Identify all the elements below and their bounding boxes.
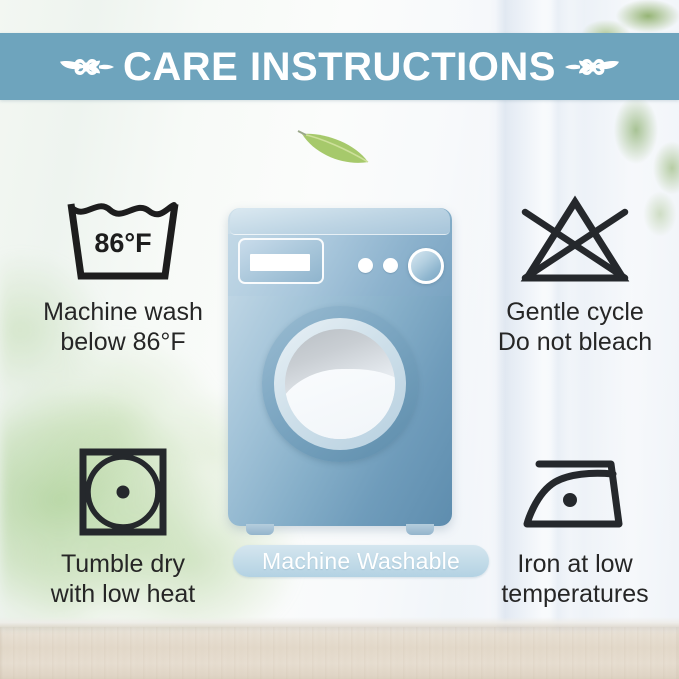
machine-button (358, 258, 373, 273)
washer-door-ring (274, 318, 406, 450)
tumble-dry-icon (71, 440, 175, 544)
iron-icon (513, 440, 637, 544)
fleur-de-lis-icon (55, 44, 117, 90)
background-table-edge (0, 617, 679, 627)
header-banner: CARE INSTRUCTIONS (0, 33, 679, 100)
care-item-label: Iron at low temperatures (501, 550, 648, 609)
falling-leaf-icon (296, 118, 376, 172)
washer-door (262, 306, 418, 462)
care-item-machine-wash: 86°F Machine wash below 86°F (18, 188, 228, 357)
machine-button (383, 258, 398, 273)
care-instructions-infographic: CARE INSTRUCTIONS 86°F Machine wash bel (0, 0, 679, 679)
badge-label: Machine Washable (262, 550, 460, 573)
triangle-crossed-icon (511, 188, 639, 292)
care-item-label: Tumble dry with low heat (51, 550, 196, 609)
care-item-tumble-dry-low: Tumble dry with low heat (18, 440, 228, 609)
machine-washable-badge: Machine Washable (233, 545, 489, 577)
care-item-gentle-cycle-no-bleach: Gentle cycle Do not bleach (470, 188, 679, 357)
machine-top-lid (230, 208, 450, 235)
care-item-label: Machine wash below 86°F (43, 298, 203, 357)
wash-temperature-value: 86°F (57, 228, 189, 259)
care-item-label: Gentle cycle Do not bleach (498, 298, 652, 357)
washing-machine-illustration (228, 208, 452, 526)
detergent-drawer-slot (250, 254, 310, 271)
wash-tub-icon: 86°F (57, 188, 189, 292)
machine-foot (246, 524, 274, 535)
machine-control-knob (408, 248, 444, 284)
fleur-de-lis-icon (562, 44, 624, 90)
page-title: CARE INSTRUCTIONS (117, 47, 562, 87)
machine-foot (406, 524, 434, 535)
background-table-grain (0, 627, 679, 679)
care-item-iron-low: Iron at low temperatures (470, 440, 679, 609)
washer-door-highlight (285, 369, 395, 439)
washer-door-glass (285, 329, 395, 439)
